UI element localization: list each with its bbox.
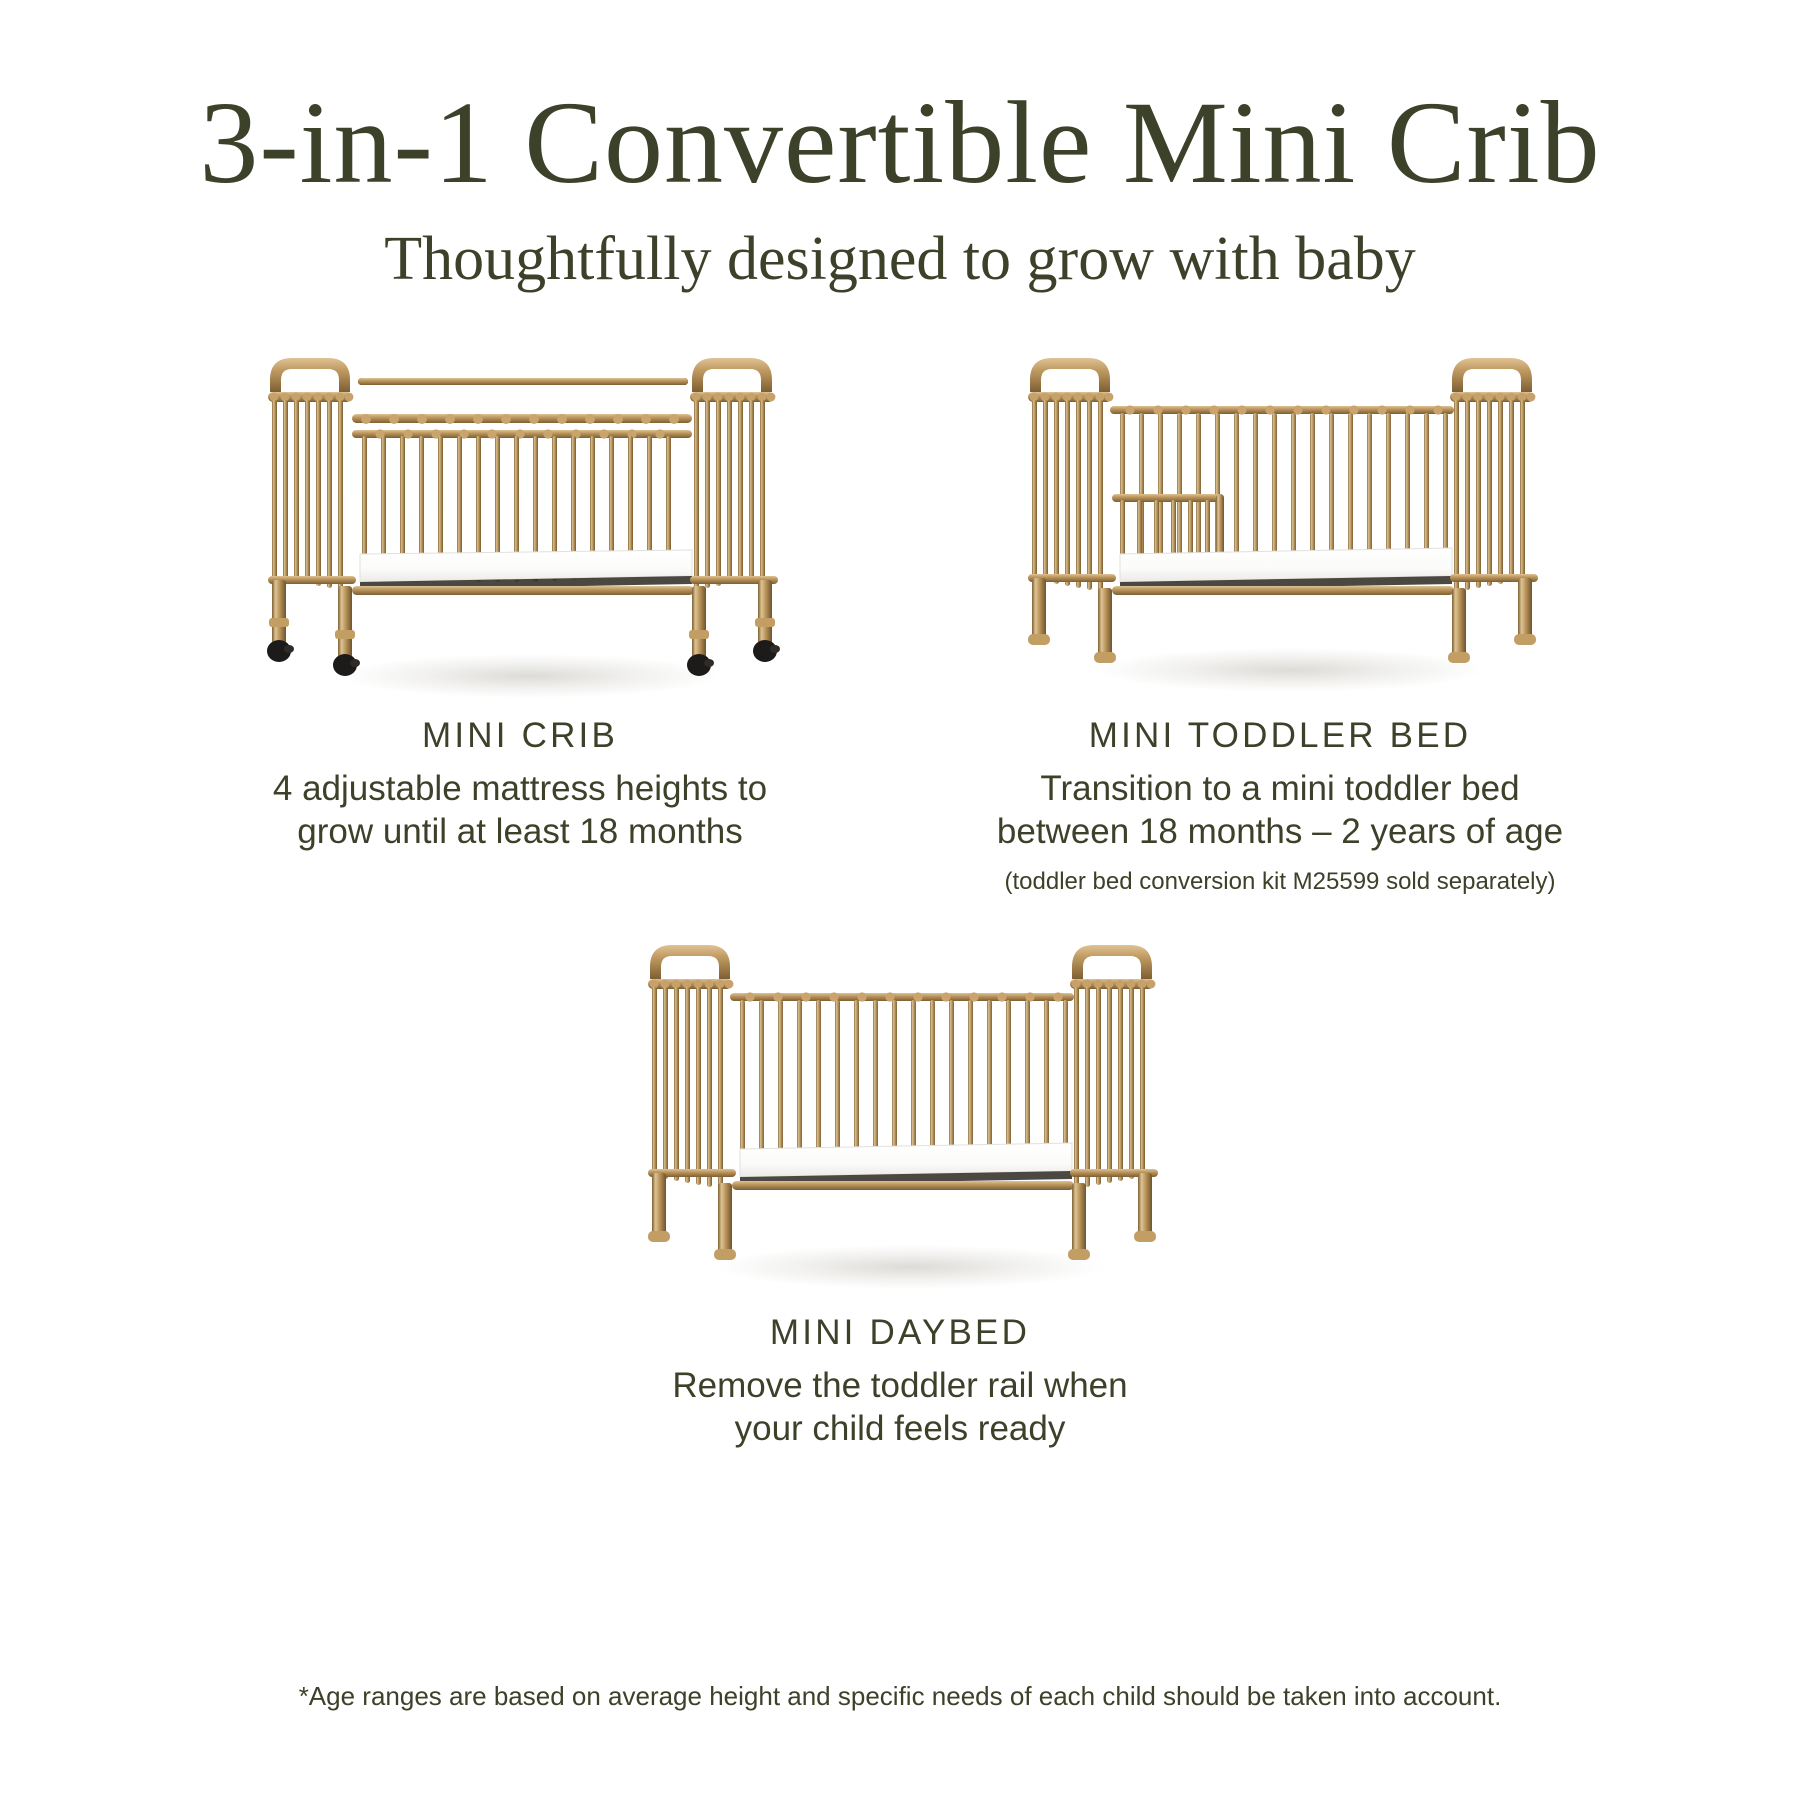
mode-name-mini-daybed: MINI DAYBED [770, 1313, 1030, 1353]
mini-crib-illustration [240, 318, 800, 708]
mode-description-mini-daybed: Remove the toddler rail when your child … [672, 1365, 1127, 1450]
mode-description-mini-toddler-bed: Transition to a mini toddler bed between… [997, 768, 1563, 853]
mini-daybed-illustration [620, 905, 1180, 1305]
mode-name-mini-toddler-bed: MINI TODDLER BED [1089, 716, 1471, 756]
bottom-row: MINI DAYBED Remove the toddler rail when… [0, 905, 1800, 1450]
mode-card-mini-daybed: MINI DAYBED Remove the toddler rail when… [520, 905, 1280, 1450]
mode-card-mini-crib: MINI CRIB 4 adjustable mattress heights … [140, 318, 900, 853]
mode-name-mini-crib: MINI CRIB [422, 716, 618, 756]
top-row: MINI CRIB 4 adjustable mattress heights … [0, 318, 1800, 897]
mode-fineprint-mini-toddler-bed: (toddler bed conversion kit M25599 sold … [1005, 867, 1556, 897]
page-subtitle: Thoughtfully designed to grow with baby [0, 202, 1800, 290]
mode-card-mini-toddler-bed: MINI TODDLER BED Transition to a mini to… [900, 318, 1660, 897]
footnote: *Age ranges are based on average height … [0, 1681, 1800, 1712]
mode-description-mini-crib: 4 adjustable mattress heights to grow un… [273, 768, 767, 853]
infographic-page: 3-in-1 Convertible Mini Crib Thoughtfull… [0, 0, 1800, 1800]
page-title: 3-in-1 Convertible Mini Crib [0, 0, 1800, 202]
mini-toddler-bed-illustration [1000, 318, 1560, 708]
